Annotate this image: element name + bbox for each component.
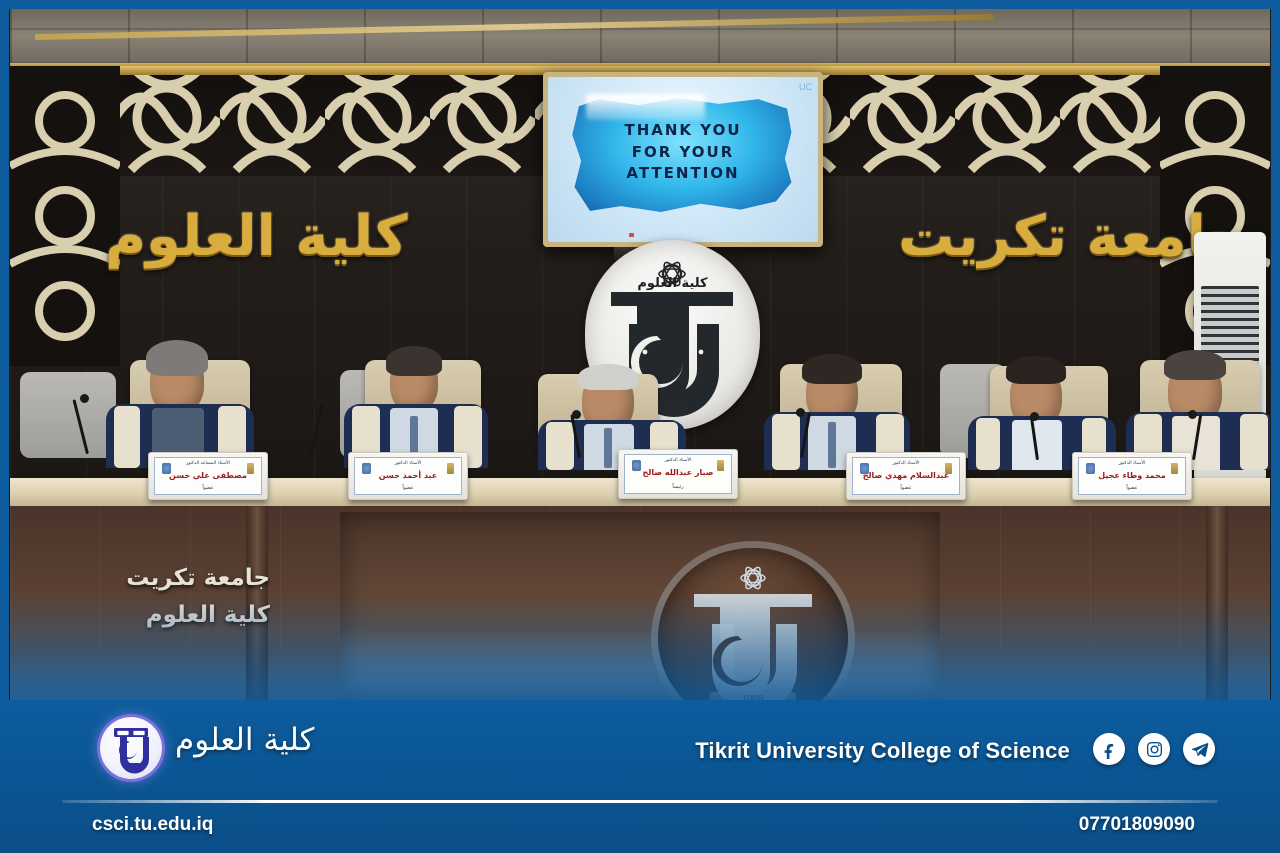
lattice-column-left <box>10 66 120 366</box>
photo-bottom-fade <box>10 594 1270 714</box>
wall-text-college: كلية العلوم <box>105 204 408 269</box>
college-logo <box>100 717 162 779</box>
nameplate-5: الأستاذ الدكتور محمد وطاء عجيل عضواً <box>1072 452 1192 500</box>
screen-power-led-icon <box>629 233 634 237</box>
slide-line-1: THANK YOU <box>548 120 818 142</box>
microphone-head-icon <box>796 408 805 417</box>
instagram-icon <box>1145 740 1164 759</box>
table-panel-line-1: جامعة تكريت <box>40 560 270 597</box>
footer-title: Tikrit University College of Science <box>695 738 1070 764</box>
plate-role: عضواً <box>853 485 959 491</box>
footer-social-links[interactable] <box>1093 733 1215 765</box>
plate-name: مصطفى علي حسن <box>155 471 261 480</box>
plate-name: صبار عبدالله صالح <box>625 468 731 477</box>
emblem-arabic-text: كلية العلوم <box>585 276 760 291</box>
presentation-screen: THANK YOU FOR YOUR ATTENTION UC <box>543 72 823 247</box>
brand-footer: كلية العلوم Tikrit University College of… <box>0 700 1280 853</box>
footer-phone-number[interactable]: 07701809090 <box>1079 814 1195 836</box>
plate-role: عضواً <box>1079 485 1185 491</box>
microphone-head-icon <box>306 400 315 409</box>
nameplate-4: الأستاذ الدكتور عبدالسلام مهدي صالح عضوا… <box>846 452 966 500</box>
photo-content: كلية العلوم جامعة تكريت THANK YOU FOR YO… <box>10 8 1270 714</box>
arabesque-pattern-icon <box>10 66 120 366</box>
plate-name: عبدالسلام مهدي صالح <box>853 471 959 480</box>
instagram-link[interactable] <box>1138 733 1170 765</box>
ceiling <box>10 8 1270 70</box>
microphone-head-icon <box>1030 412 1039 421</box>
plate-title: الأستاذ الدكتور <box>355 461 461 466</box>
screen-glare <box>586 94 705 120</box>
chair-wrapped-1 <box>20 372 116 458</box>
plate-role: عضواً <box>355 485 461 491</box>
plate-name: محمد وطاء عجيل <box>1079 471 1185 480</box>
slide-line-2: FOR YOUR <box>548 142 818 164</box>
nameplate-2: الأستاذ الدكتور عبد أحمد حسن عضواً <box>348 452 468 500</box>
slide-line-3: ATTENTION <box>548 163 818 185</box>
screen-surface: THANK YOU FOR YOUR ATTENTION UC <box>548 77 818 242</box>
plate-title: الأستاذ المساعد الدكتور <box>155 461 261 466</box>
plate-name: عبد أحمد حسن <box>355 471 461 480</box>
telegram-link[interactable] <box>1183 733 1215 765</box>
microphone-head-icon <box>572 410 581 419</box>
footer-upper-row: كلية العلوم Tikrit University College of… <box>0 700 1280 800</box>
footer-divider <box>62 800 1218 803</box>
footer-logo-arabic: كلية العلوم <box>175 722 345 758</box>
microphone-head-icon <box>80 394 89 403</box>
telegram-icon <box>1190 740 1209 759</box>
plate-title: الأستاذ الدكتور <box>853 461 959 466</box>
ceiling-gold-strip <box>35 14 993 40</box>
event-photograph: كلية العلوم جامعة تكريت THANK YOU FOR YO… <box>0 0 1280 722</box>
nameplate-3-chair: الأستاذ الدكتور صبار عبدالله صالح رئيساً <box>618 449 738 499</box>
plate-role: رئيساً <box>625 484 731 490</box>
footer-website-url[interactable]: csci.tu.edu.iq <box>92 814 213 836</box>
microphone-head-icon <box>1188 410 1197 419</box>
plate-title: الأستاذ الدكتور <box>1079 461 1185 466</box>
screenshot-root: كلية العلوم جامعة تكريت THANK YOU FOR YO… <box>0 0 1280 853</box>
plate-role: عضواً <box>155 485 261 491</box>
plate-title: الأستاذ الدكتور <box>625 458 731 463</box>
facebook-icon <box>1100 740 1119 759</box>
slide-text: THANK YOU FOR YOUR ATTENTION <box>548 120 818 185</box>
screen-corner-mark: UC <box>799 82 812 92</box>
facebook-link[interactable] <box>1093 733 1125 765</box>
college-logo-icon <box>100 717 162 779</box>
nameplate-1: الأستاذ المساعد الدكتور مصطفى علي حسن عض… <box>148 452 268 500</box>
